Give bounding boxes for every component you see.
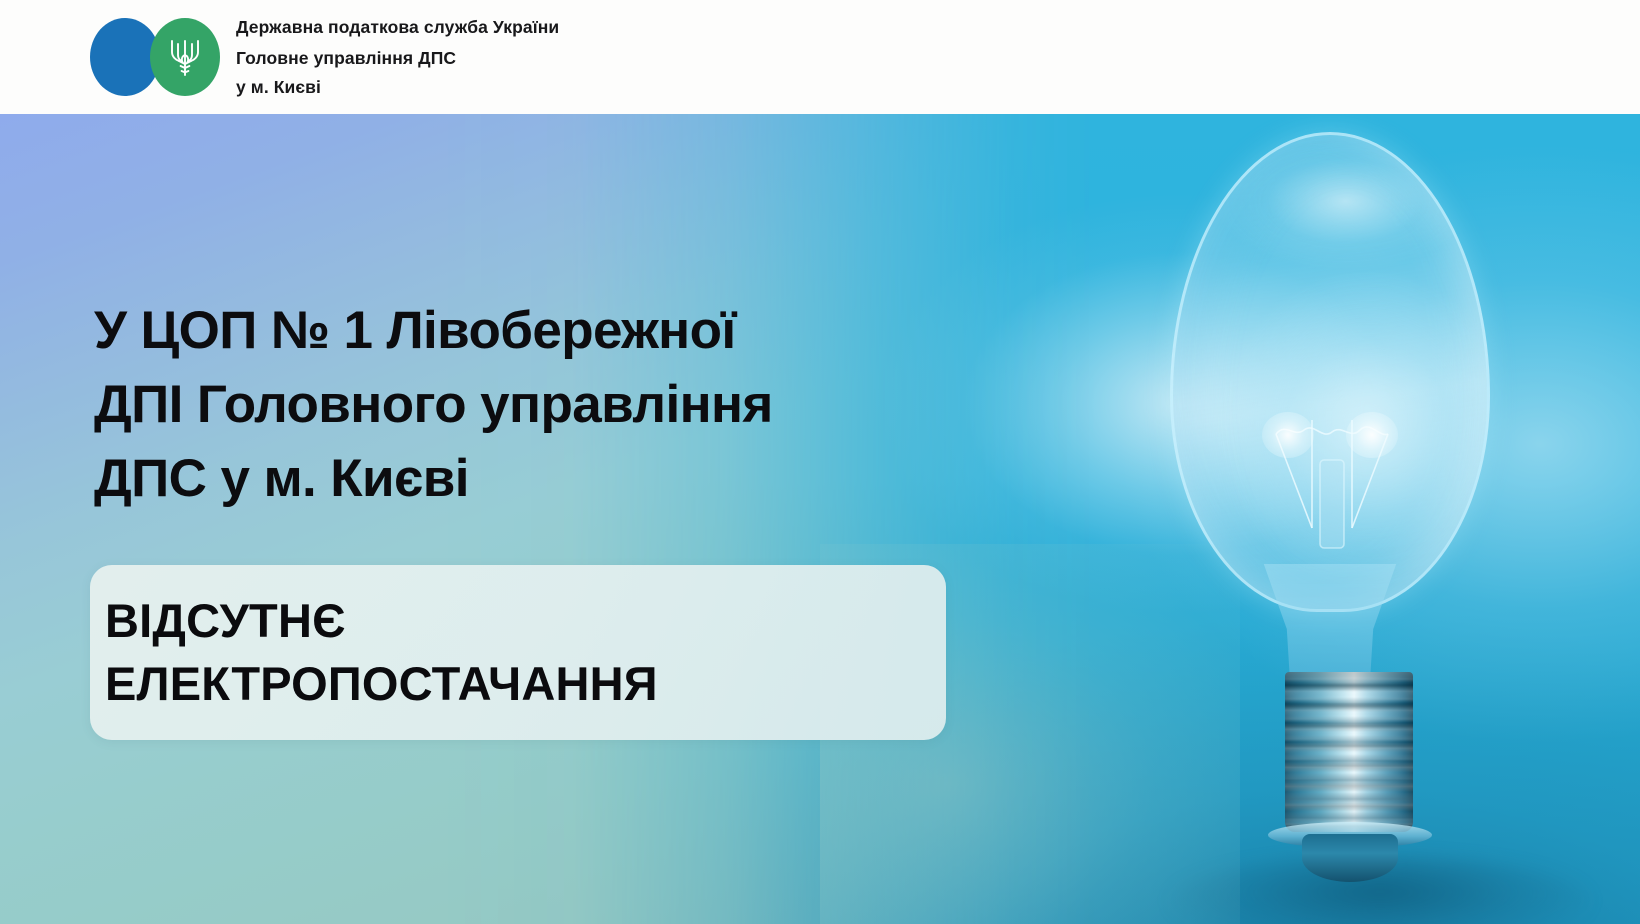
alert-line-2: ЕЛЕКТРОПОСТАЧАННЯ xyxy=(105,652,658,715)
content-layer: У ЦОП № 1 Лівобережної ДПІ Головного упр… xyxy=(0,114,1640,924)
header-bar: Державна податкова служба України Головн… xyxy=(0,0,1640,114)
alert-line-1: ВІДСУТНЄ xyxy=(105,589,658,652)
alert-text-block: ВІДСУТНЄ ЕЛЕКТРОПОСТАЧАННЯ xyxy=(105,589,658,715)
banner: Державна податкова служба України Головн… xyxy=(0,0,1640,924)
dps-logo xyxy=(90,18,220,96)
headline-line-1: У ЦОП № 1 Лівобережної xyxy=(94,294,974,368)
status-badge: ВІДСУТНЄ ЕЛЕКТРОПОСТАЧАННЯ xyxy=(90,565,946,740)
trident-icon xyxy=(150,18,220,96)
header-org-name: Державна податкова служба України xyxy=(236,13,559,42)
headline-line-3: ДПС у м. Києві xyxy=(94,442,974,516)
headline-line-2: ДПІ Головного управління xyxy=(94,368,974,442)
header-text-block: Державна податкова служба України Головн… xyxy=(236,13,559,102)
page-title: У ЦОП № 1 Лівобережної ДПІ Головного упр… xyxy=(94,294,974,516)
header-department-line-2: у м. Києві xyxy=(236,73,559,102)
header-department-line-1: Головне управління ДПС xyxy=(236,44,559,73)
